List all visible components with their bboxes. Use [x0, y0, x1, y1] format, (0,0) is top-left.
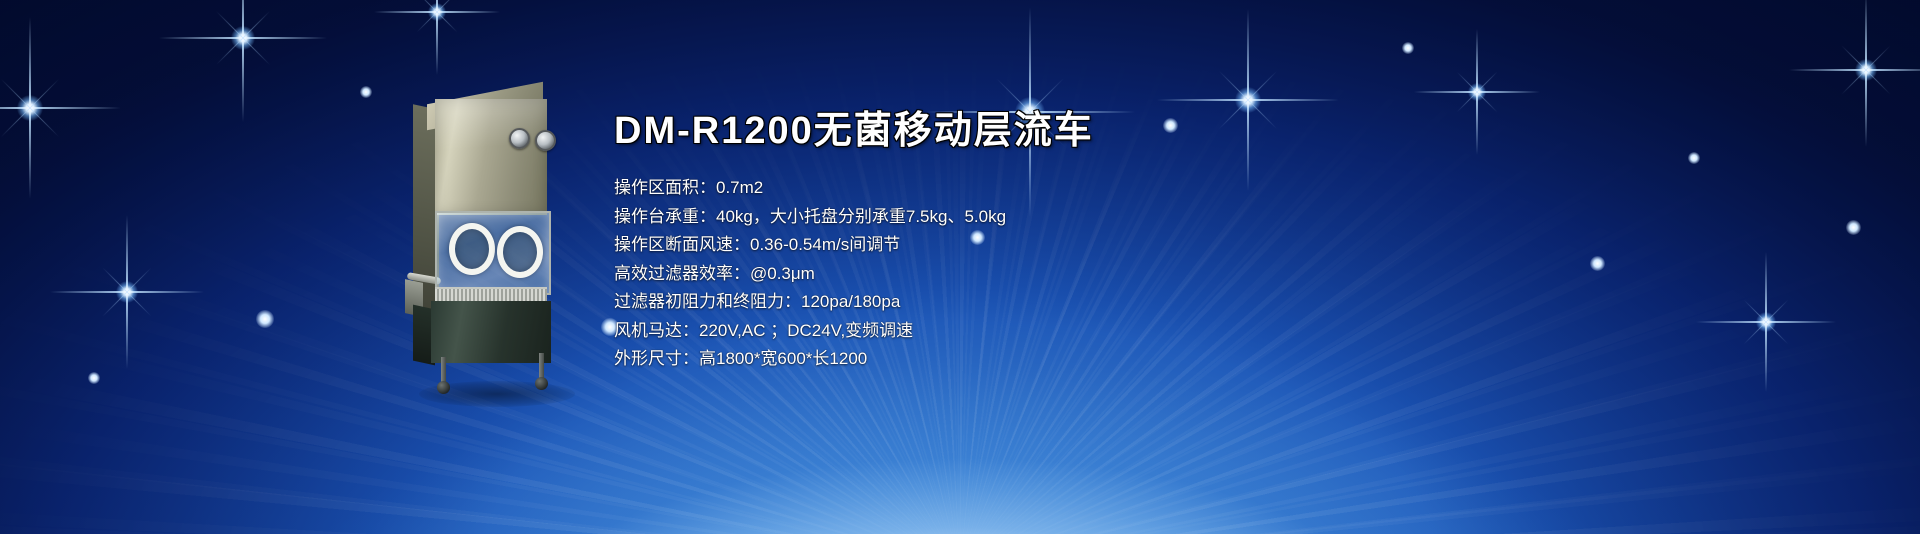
sparkle-star-icon — [1789, 0, 1920, 147]
sparkle-star-icon — [159, 0, 327, 122]
spec-line: 过滤器初阻力和终阻力：120pa/180pa — [614, 288, 1174, 317]
sparkle-star-icon — [50, 215, 204, 369]
sparkle-dot-icon — [1590, 256, 1605, 271]
sparkle-dot-icon — [360, 86, 372, 98]
spec-line: 操作台承重：40kg，大小托盘分别承重7.5kg、5.0kg — [614, 203, 1174, 232]
product-headline: DM-R1200无菌移动层流车 — [614, 108, 1174, 154]
specification-list: 操作区面积：0.7m2操作台承重：40kg，大小托盘分别承重7.5kg、5.0k… — [614, 174, 1174, 374]
sparkle-dot-icon — [88, 372, 100, 384]
sparkle-star-icon — [1414, 29, 1540, 155]
caster-wheel-right-icon — [535, 377, 548, 390]
pressure-gauge-secondary-icon — [535, 130, 556, 151]
glove-port-left-icon — [449, 223, 495, 275]
sparkle-star-icon — [0, 17, 121, 199]
product-photo — [405, 85, 590, 405]
cabinet-front-panel — [435, 99, 547, 215]
sparkle-dot-icon — [1846, 220, 1861, 235]
spec-line: 高效过滤器效率：@0.3μm — [614, 260, 1174, 289]
spec-line: 操作区断面风速：0.36-0.54m/s间调节 — [614, 231, 1174, 260]
glove-port-right-icon — [497, 226, 543, 278]
sparkle-star-icon — [374, 0, 500, 75]
sparkle-star-icon — [1696, 252, 1836, 392]
base-cabinet — [431, 301, 551, 363]
sparkle-dot-icon — [256, 310, 274, 328]
banner-content: DM-R1200无菌移动层流车 操作区面积：0.7m2操作台承重：40kg，大小… — [614, 108, 1174, 374]
spec-line: 风机马达：220V,AC ；DC24V,变频调速 — [614, 317, 1174, 346]
product-banner: DM-R1200无菌移动层流车 操作区面积：0.7m2操作台承重：40kg，大小… — [0, 0, 1920, 534]
sparkle-star-icon — [1157, 9, 1339, 191]
spec-line: 外形尺寸：高1800*宽600*长1200 — [614, 345, 1174, 374]
sparkle-dot-icon — [1402, 42, 1414, 54]
caster-wheel-left-icon — [437, 381, 450, 394]
sparkle-dot-icon — [1688, 152, 1700, 164]
spec-line: 操作区面积：0.7m2 — [614, 174, 1174, 203]
pressure-gauge-icon — [509, 128, 530, 149]
